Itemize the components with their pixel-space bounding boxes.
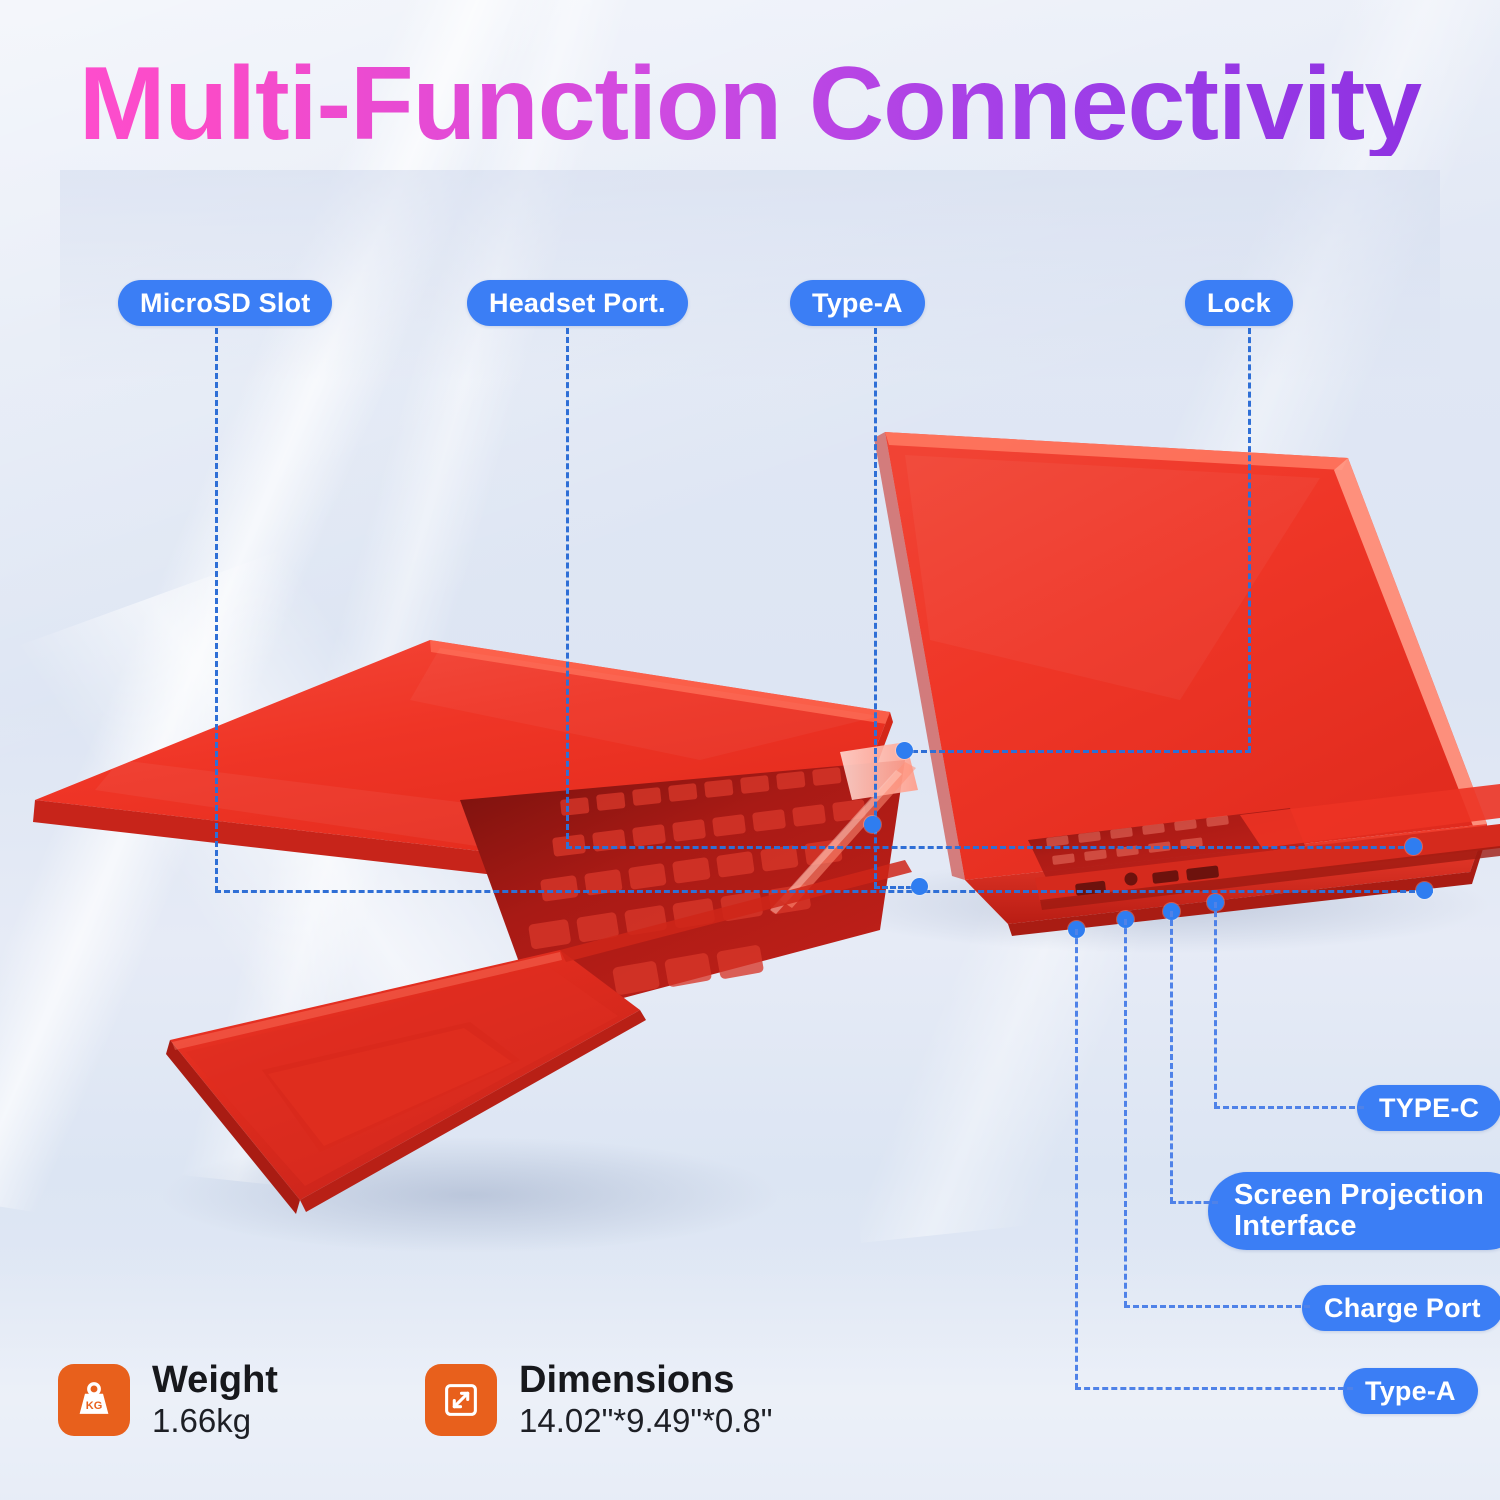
leader-line-charge-port-vertical bbox=[1124, 919, 1127, 1307]
callout-type-a-top[interactable]: Type-A bbox=[790, 280, 925, 326]
laptop-left bbox=[33, 640, 918, 1214]
leader-line-screen-projection-vertical bbox=[1170, 911, 1173, 1203]
laptop-right bbox=[874, 432, 1500, 936]
spec-weight-value: 1.66kg bbox=[152, 1404, 278, 1439]
weight-kg-icon: KG bbox=[58, 1364, 130, 1436]
leader-line-type-a-bottom-horizontal bbox=[1075, 1387, 1353, 1390]
leader-line-microsd-vertical bbox=[215, 328, 218, 892]
leader-line-lock-vertical bbox=[1248, 328, 1251, 752]
callout-type-a-bottom[interactable]: Type-A bbox=[1343, 1368, 1478, 1414]
callout-headset-port[interactable]: Headset Port. bbox=[467, 280, 688, 326]
leader-line-type-c-vertical bbox=[1214, 902, 1217, 1108]
leader-line-screen-projection-horizontal bbox=[1170, 1201, 1218, 1204]
leader-line-microsd-horizontal bbox=[215, 890, 1433, 893]
resize-arrows-icon bbox=[425, 1364, 497, 1436]
laptop-product-illustration bbox=[0, 0, 1500, 1500]
callout-lock[interactable]: Lock bbox=[1185, 280, 1293, 326]
spec-dimensions-value: 14.02"*9.49"*0.8" bbox=[519, 1404, 773, 1439]
leader-line-type-a-bottom-vertical bbox=[1075, 929, 1078, 1389]
callout-microsd-slot[interactable]: MicroSD Slot bbox=[118, 280, 332, 326]
leader-line-type-a-top-vertical bbox=[874, 328, 877, 888]
callout-screen-projection[interactable]: Screen Projection Interface bbox=[1208, 1172, 1500, 1250]
spec-weight: KG Weight 1.66kg bbox=[58, 1360, 278, 1439]
leader-dot-headset bbox=[1405, 838, 1422, 855]
svg-text:KG: KG bbox=[86, 1400, 103, 1412]
spec-weight-title: Weight bbox=[152, 1360, 278, 1400]
leader-dot-microsd bbox=[1416, 882, 1433, 899]
leader-line-lock-horizontal bbox=[903, 750, 1251, 753]
callout-charge-port[interactable]: Charge Port bbox=[1302, 1285, 1500, 1331]
leader-line-charge-port-horizontal bbox=[1124, 1305, 1310, 1308]
infographic-canvas: Multi-Function Connectivity bbox=[0, 0, 1500, 1500]
leader-line-type-c-horizontal bbox=[1214, 1106, 1364, 1109]
leader-line-headset-horizontal bbox=[566, 846, 1422, 849]
leader-dot-lock bbox=[896, 742, 913, 759]
spec-dimensions: Dimensions 14.02"*9.49"*0.8" bbox=[425, 1360, 773, 1439]
leader-line-headset-vertical bbox=[566, 328, 569, 848]
spec-dimensions-title: Dimensions bbox=[519, 1360, 773, 1400]
callout-type-c[interactable]: TYPE-C bbox=[1357, 1085, 1500, 1131]
leader-dot-type-a-top bbox=[911, 878, 928, 895]
leader-dot-keyboard-edge bbox=[864, 816, 881, 833]
